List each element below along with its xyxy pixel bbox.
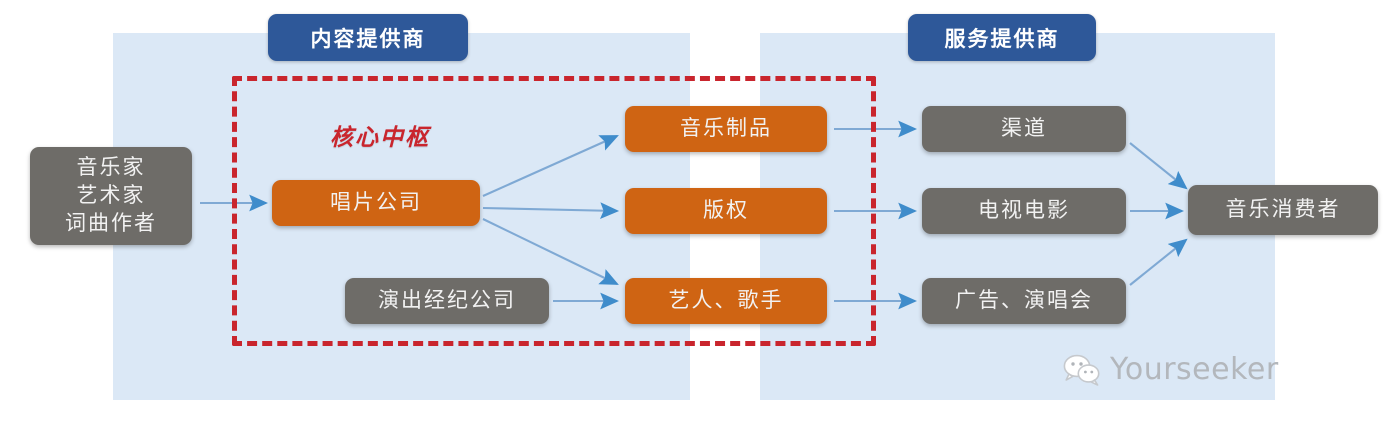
node-tv-film: 电视电影 bbox=[922, 188, 1126, 234]
node-channel: 渠道 bbox=[922, 106, 1126, 152]
diagram-canvas: 核心中枢 内容提供商 服务提供商 音乐家 艺术家 词曲作者 唱片公司 演出经纪公… bbox=[0, 0, 1397, 427]
node-music-product: 音乐制品 bbox=[625, 106, 827, 152]
node-label-company: 唱片公司 bbox=[272, 180, 480, 226]
core-hub-label: 核心中枢 bbox=[330, 118, 430, 152]
header-content-provider: 内容提供商 bbox=[268, 14, 468, 61]
node-agency: 演出经纪公司 bbox=[345, 278, 549, 324]
watermark: Yourseeker bbox=[1063, 352, 1279, 387]
node-creators-line1: 音乐家 bbox=[77, 154, 146, 182]
edge-channel-to-consumer bbox=[1130, 143, 1186, 188]
edge-adconcert-to-consumer bbox=[1130, 240, 1186, 285]
node-ad-concert: 广告、演唱会 bbox=[922, 278, 1126, 324]
node-copyright: 版权 bbox=[625, 188, 827, 234]
node-creators-line3: 词曲作者 bbox=[65, 210, 157, 238]
watermark-text: Yourseeker bbox=[1110, 352, 1279, 387]
node-creators: 音乐家 艺术家 词曲作者 bbox=[30, 147, 192, 245]
node-artist-singer: 艺人、歌手 bbox=[625, 278, 827, 324]
node-music-consumer: 音乐消费者 bbox=[1188, 185, 1378, 235]
node-creators-line2: 艺术家 bbox=[77, 182, 146, 210]
header-service-provider: 服务提供商 bbox=[908, 14, 1096, 61]
wechat-icon bbox=[1063, 354, 1101, 386]
